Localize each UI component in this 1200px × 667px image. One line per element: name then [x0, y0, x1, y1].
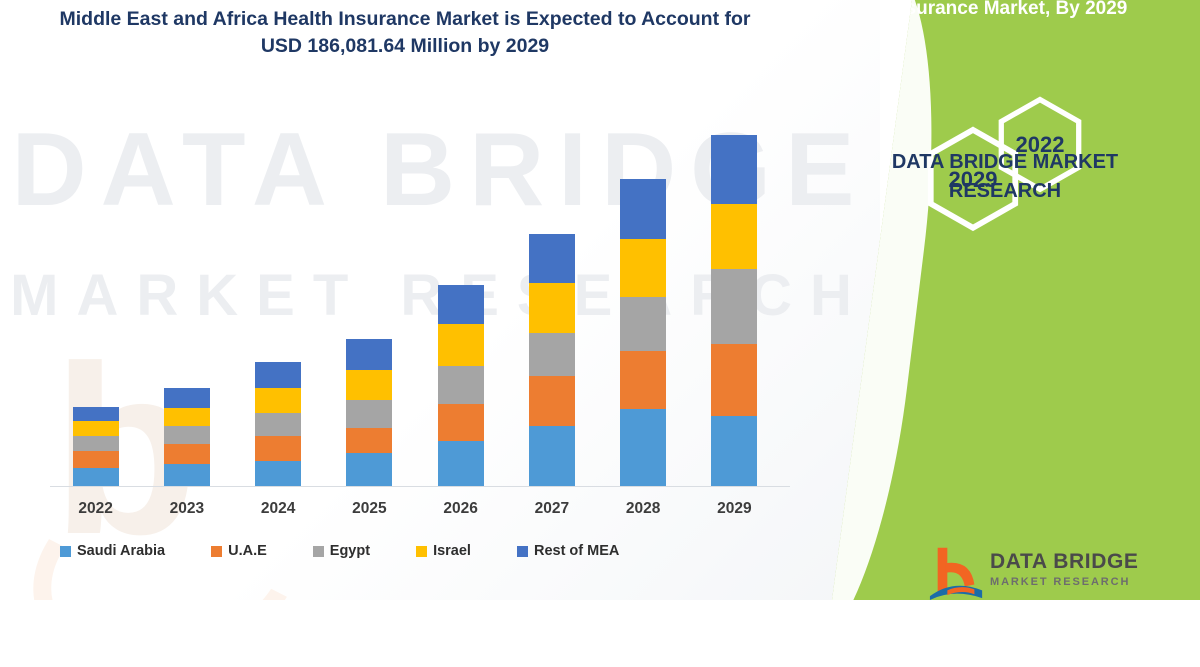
bar-segment-saudi-arabia [255, 461, 301, 486]
legend-item-saudi-arabia[interactable]: Saudi Arabia [60, 543, 165, 559]
bar-column-2026 [416, 110, 506, 486]
bar-segment-saudi-arabia [73, 468, 119, 486]
legend-swatch-icon [60, 546, 71, 557]
legend-swatch-icon [416, 546, 427, 557]
bar-segment-israel [529, 283, 575, 333]
legend-swatch-icon [517, 546, 528, 557]
bar-segment-israel [438, 324, 484, 366]
legend-label: U.A.E [228, 543, 267, 559]
bar-segment-israel [255, 388, 301, 413]
logo-primary-text: DATA BRIDGE [990, 550, 1139, 574]
brand-name: DATA BRIDGE MARKET RESEARCH [840, 148, 1170, 206]
bar-segment-saudi-arabia [438, 441, 484, 486]
bar-segment-egypt [711, 269, 757, 344]
x-tick-2023: 2023 [142, 500, 232, 518]
bar-segment-rest-of-mea [255, 362, 301, 388]
legend-swatch-icon [313, 546, 324, 557]
company-logo: DATA BRIDGE MARKET RESEARCH [928, 542, 1198, 606]
legend-label: Egypt [330, 543, 370, 559]
bar-segment-egypt [73, 436, 119, 451]
bar-segment-egypt [438, 366, 484, 404]
x-tick-2028: 2028 [598, 500, 688, 518]
bar-segment-u-a-e [73, 451, 119, 468]
bar-segment-u-a-e [346, 428, 392, 453]
bar-column-2023 [142, 110, 232, 486]
chart-legend: Saudi ArabiaU.A.EEgyptIsraelRest of MEA [60, 538, 780, 564]
screenshot-canvas: b DATA BRIDGE MARKET RESEARCH Middle Eas… [0, 0, 1200, 600]
x-tick-2022: 2022 [51, 500, 141, 518]
stacked-bar [164, 388, 210, 486]
legend-item-israel[interactable]: Israel [416, 543, 471, 559]
legend-label: Saudi Arabia [77, 543, 165, 559]
x-tick-2026: 2026 [416, 500, 506, 518]
logo-bridge-icon [928, 542, 986, 600]
logo-secondary-text: MARKET RESEARCH [990, 576, 1130, 588]
stacked-bar [73, 407, 119, 486]
chart-title: Middle East and Africa Health Insurance … [40, 6, 770, 61]
stacked-bar [620, 179, 666, 486]
bar-segment-israel [73, 421, 119, 436]
legend-item-u-a-e[interactable]: U.A.E [211, 543, 267, 559]
panel-title: Insurance Market, By 2029 [828, 0, 1188, 22]
bar-column-2029 [689, 110, 779, 486]
bar-segment-egypt [164, 426, 210, 444]
bar-segment-rest-of-mea [620, 179, 666, 239]
bar-column-2027 [507, 110, 597, 486]
bar-segment-saudi-arabia [529, 426, 575, 486]
stacked-bar [255, 362, 301, 486]
legend-label: Rest of MEA [534, 543, 619, 559]
bar-segment-u-a-e [529, 376, 575, 426]
bar-segment-rest-of-mea [73, 407, 119, 421]
bar-segment-egypt [255, 413, 301, 436]
bar-segment-rest-of-mea [529, 234, 575, 283]
bar-segment-u-a-e [255, 436, 301, 461]
axis-baseline [50, 486, 790, 487]
bar-segment-israel [620, 239, 666, 297]
x-tick-2027: 2027 [507, 500, 597, 518]
x-tick-2025: 2025 [324, 500, 414, 518]
bar-segment-egypt [346, 400, 392, 428]
bar-segment-saudi-arabia [346, 453, 392, 486]
x-axis-tick-labels: 20222023202420252026202720282029 [50, 496, 780, 522]
bar-segment-israel [711, 204, 757, 269]
stacked-bar [438, 285, 484, 486]
bar-segment-u-a-e [164, 444, 210, 464]
bar-segment-saudi-arabia [711, 416, 757, 486]
bar-segment-u-a-e [711, 344, 757, 416]
bar-segment-israel [346, 370, 392, 400]
legend-item-rest-of-mea[interactable]: Rest of MEA [517, 543, 619, 559]
bar-column-2022 [51, 110, 141, 486]
legend-item-egypt[interactable]: Egypt [313, 543, 370, 559]
bar-segment-rest-of-mea [711, 135, 757, 204]
legend-swatch-icon [211, 546, 222, 557]
stacked-bar-plot [50, 110, 780, 486]
bar-segment-rest-of-mea [346, 339, 392, 370]
bar-column-2024 [233, 110, 323, 486]
x-tick-2024: 2024 [233, 500, 323, 518]
bar-segment-egypt [529, 333, 575, 376]
bar-column-2025 [324, 110, 414, 486]
bar-segment-saudi-arabia [620, 409, 666, 486]
bar-segment-u-a-e [620, 351, 666, 409]
stacked-bar [346, 339, 392, 486]
stacked-bar [529, 234, 575, 486]
bar-segment-u-a-e [438, 404, 484, 441]
bar-segment-israel [164, 408, 210, 426]
bar-segment-egypt [620, 297, 666, 351]
bar-segment-rest-of-mea [438, 285, 484, 324]
bar-segment-rest-of-mea [164, 388, 210, 408]
chart-panel: b DATA BRIDGE MARKET RESEARCH Middle Eas… [0, 0, 880, 600]
legend-label: Israel [433, 543, 471, 559]
bar-segment-saudi-arabia [164, 464, 210, 486]
bar-column-2028 [598, 110, 688, 486]
x-tick-2029: 2029 [689, 500, 779, 518]
hexagon-badge-2022-label: 2022 [1016, 132, 1065, 158]
hexagon-badge-2029-label: 2029 [949, 167, 998, 193]
stacked-bar [711, 135, 757, 486]
